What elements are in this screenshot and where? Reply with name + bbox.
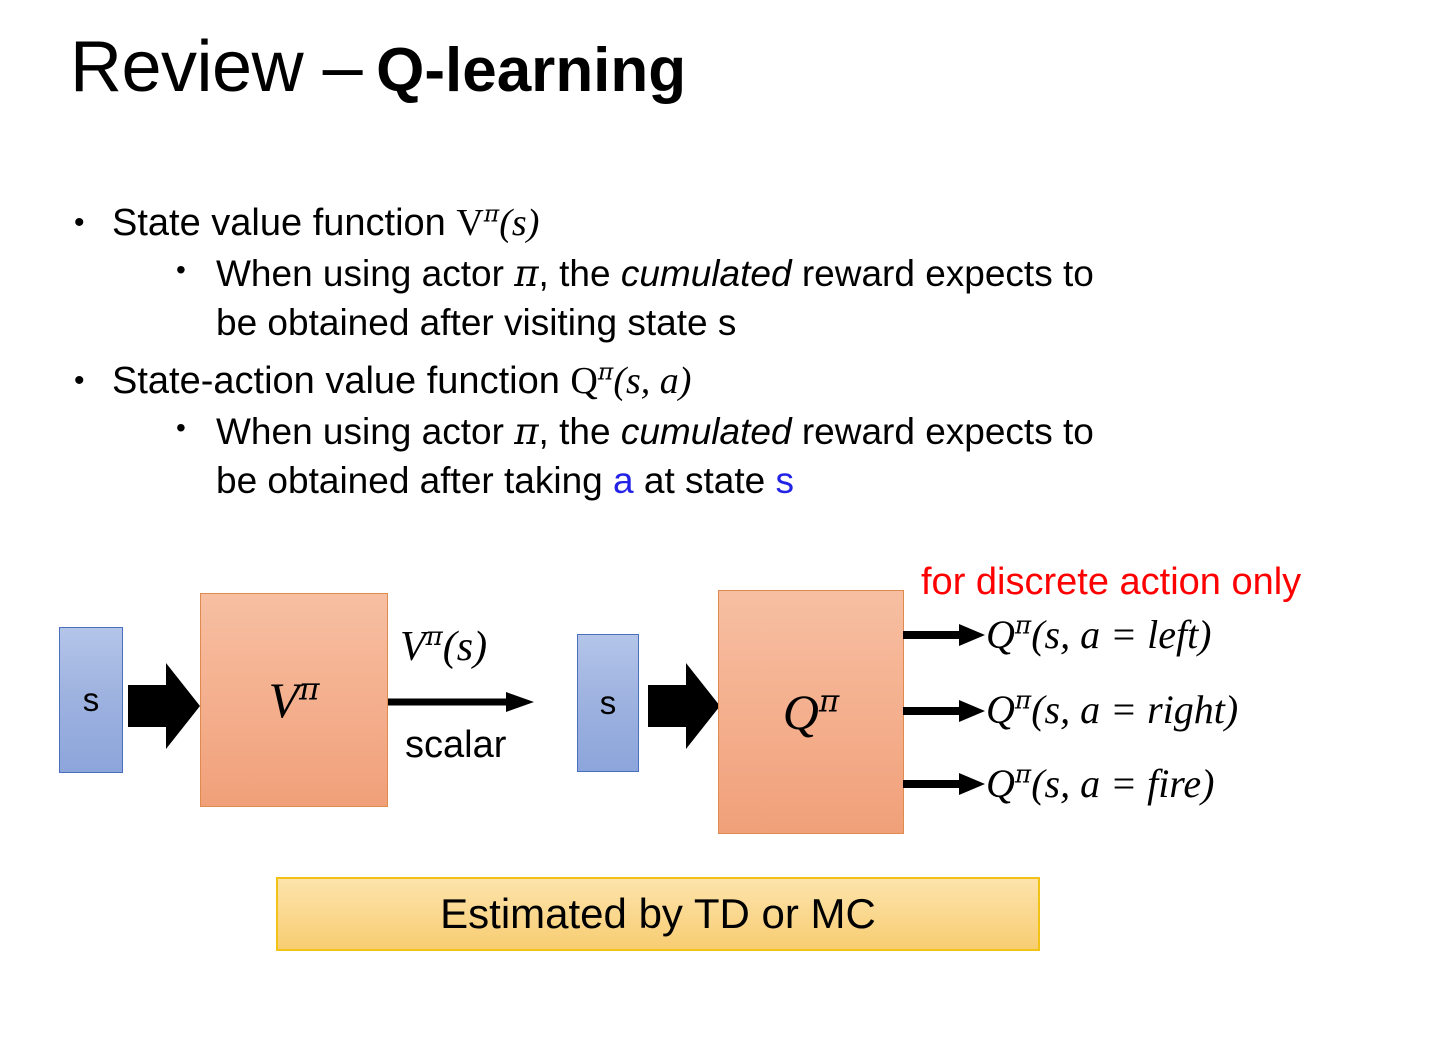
sub-bullet-line2: be obtained after visiting state s <box>216 299 1366 348</box>
q-network-box: Qπ <box>718 590 904 834</box>
q-out1-superscript: π <box>1015 611 1031 640</box>
bullet-marker: • <box>176 408 186 448</box>
v-network-superscript: π <box>299 671 319 707</box>
estimated-by-banner: Estimated by TD or MC <box>276 877 1040 951</box>
page-title-main: Review – <box>70 26 362 108</box>
bullet-item-state-action-value: •State-action value function Qπ(s, a) <box>66 358 1366 404</box>
math-superscript: π <box>598 357 613 385</box>
bullet-body: •State value function Vπ(s) •When using … <box>66 200 1366 516</box>
sub-bullet-state-action-desc: •When using actor π, the cumulated rewar… <box>66 408 1366 506</box>
q-output-arrow-2-icon <box>903 699 985 723</box>
bullet-text-prefix: State-action value function <box>112 360 570 402</box>
highlight-action-a: a <box>613 460 634 501</box>
q-out3-base: Q <box>986 761 1015 806</box>
q-out1-base: Q <box>986 612 1015 657</box>
discrete-action-note: for discrete action only <box>921 561 1301 604</box>
math-pi: π <box>514 410 538 453</box>
math-superscript: π <box>484 199 499 227</box>
bullet-marker: • <box>74 358 85 403</box>
q-out3-args: (s, a = fire) <box>1031 761 1214 806</box>
v-branch-state-label: s <box>83 681 100 719</box>
v-network-label: Vπ <box>269 671 320 729</box>
math-args: (s) <box>499 202 539 244</box>
v-output-superscript: π <box>426 622 443 652</box>
network-diagram: s Vπ Vπ(s) scalar s Qπ for discrete acti… <box>0 0 1442 1038</box>
v-branch-output-type-label: scalar <box>405 724 506 767</box>
sub-bullet-line2-a: be obtained after taking <box>216 460 613 501</box>
q-output-label-fire: Qπ(s, a = fire) <box>986 760 1214 807</box>
v-output-base: V <box>400 624 426 670</box>
v-network-box: Vπ <box>200 593 388 807</box>
highlight-state-s: s <box>776 460 795 501</box>
q-branch-state-box: s <box>577 634 639 772</box>
q-output-label-right: Qπ(s, a = right) <box>986 686 1238 733</box>
bullet-marker: • <box>74 200 85 245</box>
sub-bullet-seg2: , the <box>539 253 621 294</box>
math-base: V <box>456 202 483 244</box>
sub-bullet-seg1: When using actor <box>216 253 514 294</box>
v-branch-state-box: s <box>59 627 123 773</box>
v-branch-input-arrow-icon <box>128 663 200 749</box>
sub-bullet-seg3: reward expects to <box>792 253 1094 294</box>
q-network-label: Qπ <box>783 683 839 741</box>
q-out1-args: (s, a = left) <box>1031 612 1211 657</box>
bullet-marker: • <box>176 250 186 290</box>
q-out2-args: (s, a = right) <box>1031 687 1238 732</box>
sub-bullet-emphasis: cumulated <box>621 411 792 452</box>
math-args: (s, a) <box>613 360 691 402</box>
sub-bullet-line2: be obtained after taking a at state s <box>216 457 1366 506</box>
v-network-base: V <box>269 672 300 728</box>
q-branch-input-arrow-icon <box>648 663 720 749</box>
q-out2-base: Q <box>986 687 1015 732</box>
q-output-arrow-1-icon <box>903 623 985 647</box>
q-network-superscript: π <box>819 683 839 719</box>
q-out2-superscript: π <box>1015 686 1031 715</box>
bullet-text-prefix: State value function <box>112 202 456 244</box>
sub-bullet-emphasis: cumulated <box>621 253 792 294</box>
q-network-base: Q <box>783 684 819 740</box>
sub-bullet-seg2: , the <box>539 411 621 452</box>
q-branch-state-label: s <box>600 684 617 722</box>
math-base: Q <box>570 360 597 402</box>
page-title: Review – Q-learning <box>70 26 686 116</box>
sub-bullet-line2-b: at state <box>634 460 776 501</box>
page-title-sub: Q-learning <box>376 35 686 106</box>
sub-bullet-state-value-desc: •When using actor π, the cumulated rewar… <box>66 250 1366 348</box>
bullet-item-state-value: •State value function Vπ(s) <box>66 200 1366 246</box>
sub-bullet-seg1: When using actor <box>216 411 514 452</box>
v-branch-output-arrow-icon <box>388 690 534 714</box>
math-pi: π <box>514 252 538 295</box>
estimated-by-banner-label: Estimated by TD or MC <box>440 890 876 938</box>
q-output-label-left: Qπ(s, a = left) <box>986 611 1212 658</box>
q-output-arrow-3-icon <box>903 772 985 796</box>
v-output-args: (s) <box>443 624 487 670</box>
v-branch-output-label: Vπ(s) <box>400 623 487 671</box>
sub-bullet-seg3: reward expects to <box>792 411 1094 452</box>
q-out3-superscript: π <box>1015 760 1031 789</box>
